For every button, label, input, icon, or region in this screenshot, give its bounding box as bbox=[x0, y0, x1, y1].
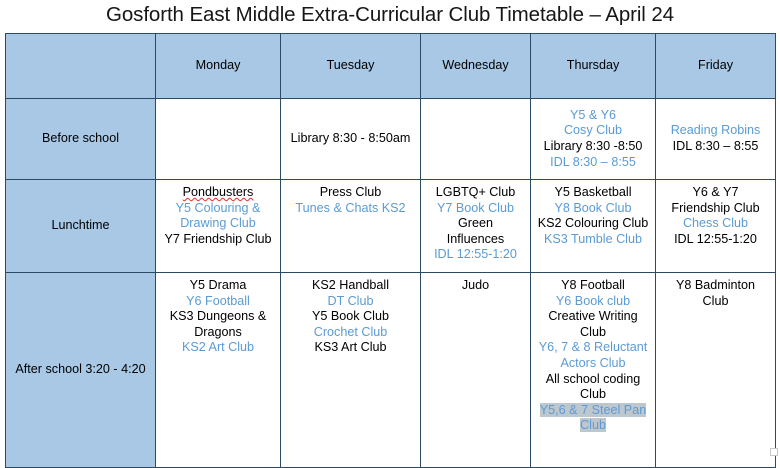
column-header-thursday: Thursday bbox=[531, 34, 656, 99]
club-entry-text: Pondbusters bbox=[183, 185, 254, 199]
club-entry-text: Y6 & Y7 bbox=[693, 185, 739, 199]
cell-after-school-wednesday: Judo bbox=[421, 273, 531, 468]
club-entry: Y5,6 & 7 Steel Pan bbox=[534, 403, 652, 419]
club-entry: Y5 & Y6 bbox=[534, 108, 652, 124]
club-entry: KS2 Handball bbox=[284, 278, 417, 294]
club-entry: Y7 Book Club bbox=[424, 201, 527, 217]
club-entry: Y6 Football bbox=[159, 294, 277, 310]
club-entry: Library 8:30 -8:50 bbox=[534, 139, 652, 155]
club-entry: Y5 Colouring & bbox=[159, 201, 277, 217]
club-entry: Creative Writing bbox=[534, 309, 652, 325]
club-entry: Y8 Book Club bbox=[534, 201, 652, 217]
club-entry: Y5 Book Club bbox=[284, 309, 417, 325]
cell-content: Y5 DramaY6 FootballKS3 Dungeons &Dragons… bbox=[159, 278, 277, 356]
club-entry-text: Y8 Book Club bbox=[554, 201, 631, 215]
club-entry: Y5 Basketball bbox=[534, 185, 652, 201]
cell-lunchtime-monday: PondbustersY5 Colouring &Drawing ClubY7 … bbox=[156, 180, 281, 273]
club-entry: LGBTQ+ Club bbox=[424, 185, 527, 201]
club-entry: KS3 Art Club bbox=[284, 340, 417, 356]
club-entry-text: All school coding bbox=[546, 372, 641, 386]
club-entry-text: IDL 8:30 – 8:55 bbox=[550, 155, 636, 169]
club-entry: Y7 Friendship Club bbox=[159, 232, 277, 248]
club-entry-text: Actors Club bbox=[560, 356, 625, 370]
club-entry-text: IDL 8:30 – 8:55 bbox=[673, 139, 759, 153]
club-entry-text: IDL 12:55-1:20 bbox=[434, 247, 517, 261]
club-entry: Reading Robins bbox=[659, 123, 772, 139]
club-entry-text: Y6, 7 & 8 Reluctant bbox=[539, 340, 648, 354]
club-entry-text: KS3 Tumble Club bbox=[544, 232, 642, 246]
cell-content: Y6 & Y7Friendship ClubChess ClubIDL 12:5… bbox=[659, 185, 772, 247]
timetable-container: Monday Tuesday Wednesday Thursday Friday… bbox=[5, 33, 775, 468]
column-header-wednesday: Wednesday bbox=[421, 34, 531, 99]
table-row: Lunchtime PondbustersY5 Colouring &Drawi… bbox=[6, 180, 776, 273]
club-entry: Y8 Badminton bbox=[659, 278, 772, 294]
cell-content: Y8 BadmintonClub bbox=[659, 278, 772, 309]
club-entry-text: Press Club bbox=[320, 185, 382, 199]
cell-after-school-thursday: Y8 FootballY6 Book clubCreative WritingC… bbox=[531, 273, 656, 468]
club-entry: Press Club bbox=[284, 185, 417, 201]
page-title: Gosforth East Middle Extra-Curricular Cl… bbox=[0, 0, 780, 32]
club-entry-text: Y5 Colouring & bbox=[176, 201, 261, 215]
cell-content: Reading RobinsIDL 8:30 – 8:55 bbox=[659, 123, 772, 154]
club-entry-text: Y5 & Y6 bbox=[570, 108, 616, 122]
header-corner-cell bbox=[6, 34, 156, 99]
club-entry: Club bbox=[659, 294, 772, 310]
club-entry-text: KS2 Handball bbox=[312, 278, 389, 292]
cell-before-school-wednesday bbox=[421, 99, 531, 180]
cell-lunchtime-friday: Y6 & Y7Friendship ClubChess ClubIDL 12:5… bbox=[656, 180, 776, 273]
club-entry-text: Cosy Club bbox=[564, 123, 622, 137]
cell-before-school-monday bbox=[156, 99, 281, 180]
club-entry: Friendship Club bbox=[659, 201, 772, 217]
club-entry: Drawing Club bbox=[159, 216, 277, 232]
club-entry: KS2 Colouring Club bbox=[534, 216, 652, 232]
club-entry-text: Friendship Club bbox=[671, 201, 759, 215]
club-entry-text: LGBTQ+ Club bbox=[436, 185, 515, 199]
cell-before-school-tuesday: Library 8:30 - 8:50am bbox=[281, 99, 421, 180]
club-entry: KS3 Dungeons & bbox=[159, 309, 277, 325]
club-entry: Y6, 7 & 8 Reluctant bbox=[534, 340, 652, 356]
club-entry-text: Green bbox=[458, 216, 493, 230]
club-entry: Actors Club bbox=[534, 356, 652, 372]
cell-content: Judo bbox=[424, 278, 527, 294]
club-entry-text: Club bbox=[703, 294, 729, 308]
club-entry: DT Club bbox=[284, 294, 417, 310]
club-entry-text: Club bbox=[580, 418, 606, 432]
column-header-tuesday: Tuesday bbox=[281, 34, 421, 99]
club-entry: Judo bbox=[424, 278, 527, 294]
club-entry-text: Y5 Basketball bbox=[554, 185, 631, 199]
club-entry-text: Y5 Drama bbox=[190, 278, 247, 292]
club-entry-text: Creative Writing bbox=[548, 309, 637, 323]
club-entry-text: Library 8:30 -8:50 bbox=[544, 139, 643, 153]
club-entry-text: KS2 Art Club bbox=[182, 340, 254, 354]
club-entry-text: DT Club bbox=[328, 294, 374, 308]
club-entry-text: Y8 Football bbox=[561, 278, 625, 292]
club-entry-text: KS2 Colouring Club bbox=[538, 216, 649, 230]
club-entry: Cosy Club bbox=[534, 123, 652, 139]
club-entry: Green bbox=[424, 216, 527, 232]
club-entry-text: Club bbox=[580, 325, 606, 339]
club-entry-text: Drawing Club bbox=[180, 216, 256, 230]
club-entry: All school coding bbox=[534, 372, 652, 388]
club-entry-text: Club bbox=[580, 387, 606, 401]
cell-content: LGBTQ+ ClubY7 Book ClubGreenInfluencesID… bbox=[424, 185, 527, 263]
club-entry: IDL 12:55-1:20 bbox=[424, 247, 527, 263]
table-row: Before school Library 8:30 - 8:50am Y5 &… bbox=[6, 99, 776, 180]
club-entry: Dragons bbox=[159, 325, 277, 341]
club-entry-text: Y5 Book Club bbox=[312, 309, 389, 323]
club-timetable: Monday Tuesday Wednesday Thursday Friday… bbox=[5, 33, 776, 468]
cell-lunchtime-thursday: Y5 BasketballY8 Book ClubKS2 Colouring C… bbox=[531, 180, 656, 273]
club-entry-text: Influences bbox=[447, 232, 504, 246]
club-entry-text: Library 8:30 - 8:50am bbox=[291, 131, 411, 145]
column-header-monday: Monday bbox=[156, 34, 281, 99]
club-entry-text: Chess Club bbox=[683, 216, 748, 230]
club-entry: KS3 Tumble Club bbox=[534, 232, 652, 248]
cell-after-school-tuesday: KS2 HandballDT ClubY5 Book ClubCrochet C… bbox=[281, 273, 421, 468]
row-header-before-school: Before school bbox=[6, 99, 156, 180]
cell-content: Y5 BasketballY8 Book ClubKS2 Colouring C… bbox=[534, 185, 652, 247]
cell-content: PondbustersY5 Colouring &Drawing ClubY7 … bbox=[159, 185, 277, 247]
cell-content: Press ClubTunes & Chats KS2 bbox=[284, 185, 417, 216]
cell-content: Y5 & Y6Cosy ClubLibrary 8:30 -8:50IDL 8:… bbox=[534, 108, 652, 170]
club-entry: IDL 12:55-1:20 bbox=[659, 232, 772, 248]
club-entry: Y6 Book club bbox=[534, 294, 652, 310]
cell-after-school-friday: Y8 BadmintonClub bbox=[656, 273, 776, 468]
timetable-header: Monday Tuesday Wednesday Thursday Friday bbox=[6, 34, 776, 99]
club-entry-text: KS3 Dungeons & bbox=[170, 309, 267, 323]
document-edge-marker bbox=[770, 448, 778, 456]
club-entry: Tunes & Chats KS2 bbox=[284, 201, 417, 217]
cell-before-school-friday: Reading RobinsIDL 8:30 – 8:55 bbox=[656, 99, 776, 180]
club-entry: IDL 8:30 – 8:55 bbox=[534, 155, 652, 171]
cell-lunchtime-wednesday: LGBTQ+ ClubY7 Book ClubGreenInfluencesID… bbox=[421, 180, 531, 273]
club-entry: Chess Club bbox=[659, 216, 772, 232]
club-entry-text: Reading Robins bbox=[671, 123, 761, 137]
club-entry: Y5 Drama bbox=[159, 278, 277, 294]
cell-after-school-monday: Y5 DramaY6 FootballKS3 Dungeons &Dragons… bbox=[156, 273, 281, 468]
club-entry: Y6 & Y7 bbox=[659, 185, 772, 201]
club-entry: Pondbusters bbox=[159, 185, 277, 201]
club-entry-text: Y5,6 & 7 Steel Pan bbox=[540, 403, 646, 417]
club-entry-text: Y7 Friendship Club bbox=[164, 232, 271, 246]
column-header-friday: Friday bbox=[656, 34, 776, 99]
club-entry: Influences bbox=[424, 232, 527, 248]
club-entry: Library 8:30 - 8:50am bbox=[284, 131, 417, 147]
timetable-body: Before school Library 8:30 - 8:50am Y5 &… bbox=[6, 99, 776, 468]
club-entry-text: Dragons bbox=[194, 325, 242, 339]
club-entry-text: Tunes & Chats KS2 bbox=[295, 201, 405, 215]
club-entry: KS2 Art Club bbox=[159, 340, 277, 356]
club-entry: Club bbox=[534, 387, 652, 403]
row-header-after-school: After school 3:20 - 4:20 bbox=[6, 273, 156, 468]
cell-content: KS2 HandballDT ClubY5 Book ClubCrochet C… bbox=[284, 278, 417, 356]
club-entry-text: Y8 Badminton bbox=[676, 278, 755, 292]
cell-lunchtime-tuesday: Press ClubTunes & Chats KS2 bbox=[281, 180, 421, 273]
club-entry: Club bbox=[534, 418, 652, 434]
cell-content: Y8 FootballY6 Book clubCreative WritingC… bbox=[534, 278, 652, 434]
club-entry: Crochet Club bbox=[284, 325, 417, 341]
club-entry-text: IDL 12:55-1:20 bbox=[674, 232, 757, 246]
club-entry-text: Y6 Football bbox=[186, 294, 250, 308]
cell-content: Library 8:30 - 8:50am bbox=[284, 131, 417, 147]
header-row: Monday Tuesday Wednesday Thursday Friday bbox=[6, 34, 776, 99]
club-entry: Y8 Football bbox=[534, 278, 652, 294]
cell-before-school-thursday: Y5 & Y6Cosy ClubLibrary 8:30 -8:50IDL 8:… bbox=[531, 99, 656, 180]
club-entry-text: Y6 Book club bbox=[556, 294, 630, 308]
club-entry-text: Y7 Book Club bbox=[437, 201, 514, 215]
club-entry: IDL 8:30 – 8:55 bbox=[659, 139, 772, 155]
timetable-page: Gosforth East Middle Extra-Curricular Cl… bbox=[0, 0, 780, 459]
club-entry-text: Crochet Club bbox=[314, 325, 388, 339]
club-entry-text: Judo bbox=[462, 278, 489, 292]
club-entry-text: KS3 Art Club bbox=[314, 340, 386, 354]
table-row: After school 3:20 - 4:20 Y5 DramaY6 Foot… bbox=[6, 273, 776, 468]
row-header-lunchtime: Lunchtime bbox=[6, 180, 156, 273]
club-entry: Club bbox=[534, 325, 652, 341]
